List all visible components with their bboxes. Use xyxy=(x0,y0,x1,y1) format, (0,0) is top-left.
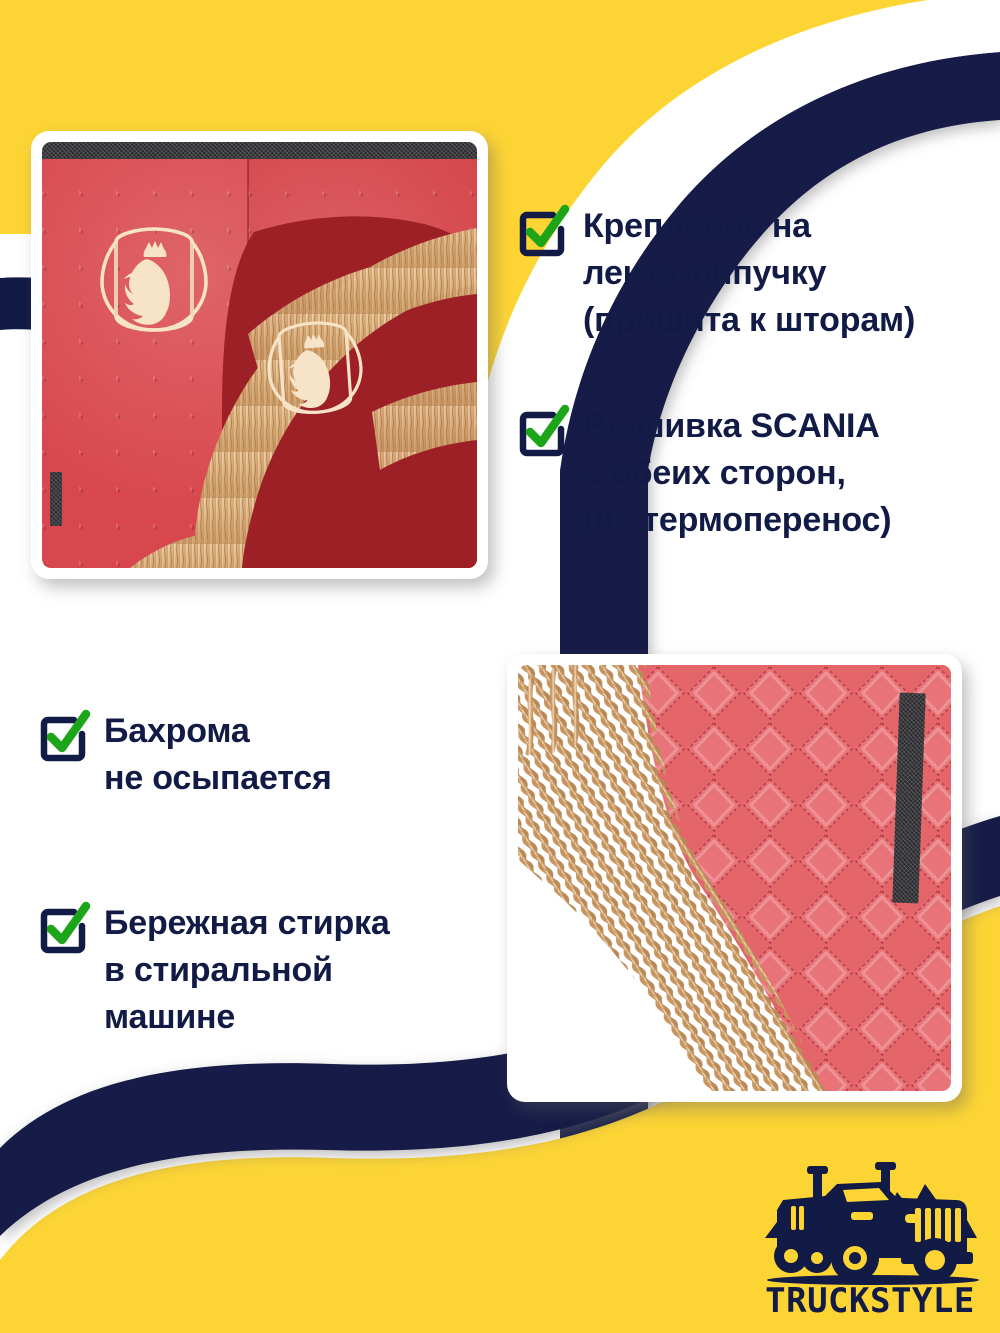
truck-mountain-logo-icon xyxy=(765,1162,979,1285)
green-check-icon xyxy=(517,205,569,257)
photo-inner-bottom-right xyxy=(518,665,951,1091)
brand-wordmark: TRUCKSTYLE xyxy=(765,1281,975,1315)
scania-griffin-emblem-left xyxy=(94,220,214,342)
feature-label: Бахрома не осыпается xyxy=(104,708,332,802)
scania-griffin-emblem-right xyxy=(258,310,371,427)
feature-item-embroidery: Вышивка SCANIA с обеих сторон, (не термо… xyxy=(517,403,987,544)
photo-inner-top-left xyxy=(42,142,477,568)
feature-item-mounting: Крепление на ленту-липучку (пришита к шт… xyxy=(517,203,987,344)
product-photo-fringe-closeup[interactable] xyxy=(507,654,962,1102)
feature-label: Крепление на ленту-липучку (пришита к шт… xyxy=(583,203,915,344)
green-check-icon xyxy=(38,902,90,954)
fringe-closeup-strands xyxy=(518,665,951,1091)
feature-item-fringe: Бахрома не осыпается xyxy=(38,708,478,802)
green-check-icon xyxy=(38,710,90,762)
feature-label: Вышивка SCANIA с обеих сторон, (не термо… xyxy=(583,403,891,544)
infographic-canvas: Крепление на ленту-липучку (пришита к шт… xyxy=(0,0,1000,1333)
product-photo-curtains-with-scania-embroidery[interactable] xyxy=(31,131,488,579)
feature-label: Бережная стирка в стиральной машине xyxy=(104,900,390,1041)
velcro-strip-top xyxy=(42,142,477,159)
velcro-tab-bottom-left xyxy=(50,472,62,526)
green-check-icon xyxy=(517,405,569,457)
brand-logo-truckstyle: TRUCKSTYLE xyxy=(755,1140,985,1315)
feature-item-washing: Бережная стирка в стиральной машине xyxy=(38,900,488,1041)
